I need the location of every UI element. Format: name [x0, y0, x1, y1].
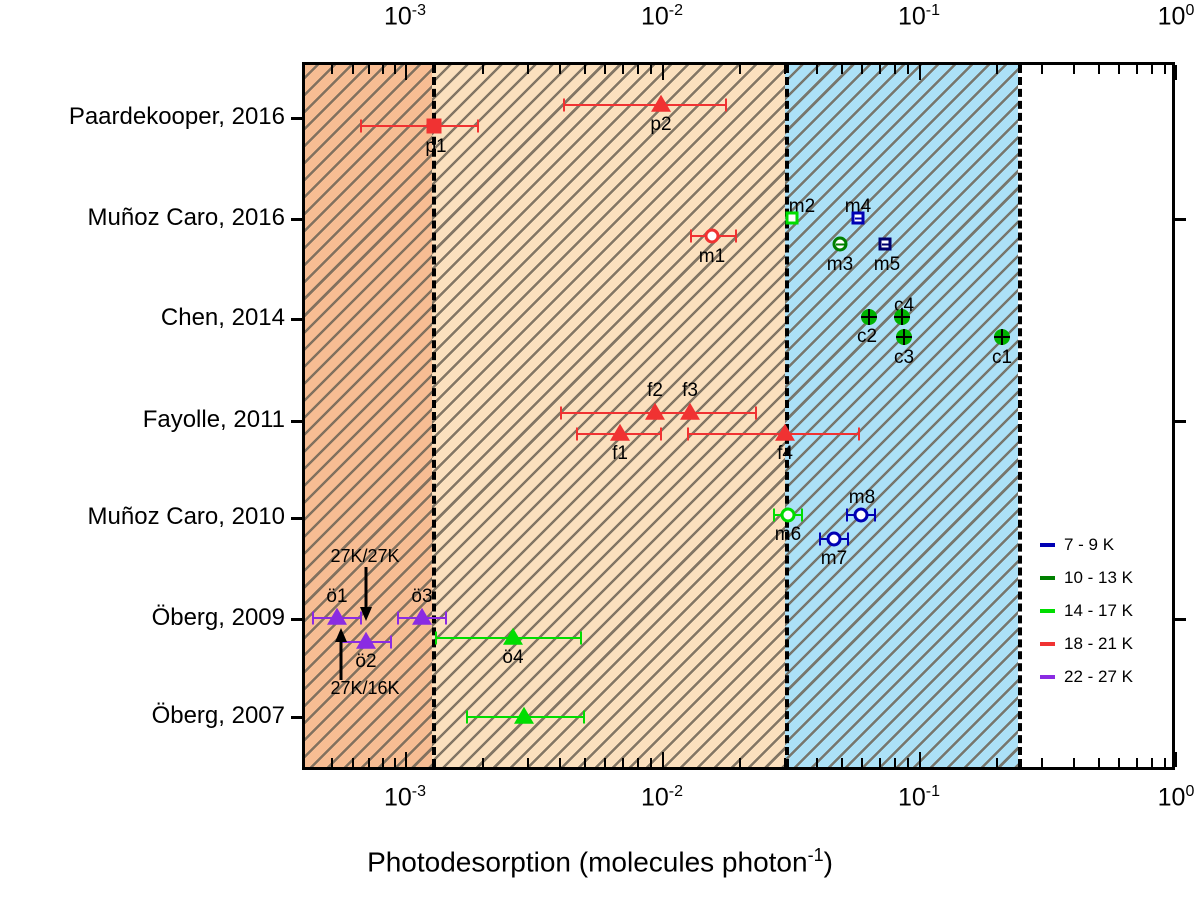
legend-swatch-22-27k [1040, 675, 1055, 679]
errorbar-f4 [688, 433, 859, 435]
band-blue [785, 65, 1018, 767]
point-m5[interactable] [879, 238, 892, 251]
x-axis-title: Photodesorption (molecules photon-1) [0, 845, 1200, 878]
errorcap-f1-low [576, 428, 578, 441]
errorcap-m1-low [690, 230, 692, 243]
errorcap-p2-low [563, 99, 565, 112]
errorcap-f2f3-high [755, 407, 757, 420]
legend-label-18-21k: 18 - 21 K [1064, 634, 1133, 654]
errorcap-f4-high [858, 428, 860, 441]
errorcap-o2-high [390, 636, 392, 649]
x-axis-title-close: ) [824, 846, 833, 877]
y-tick-4 [291, 517, 302, 520]
errorcap-m7-low [819, 533, 821, 546]
point-label-c1: c1 [992, 347, 1012, 369]
point-label-f1: f1 [612, 443, 628, 465]
y-tick-label-fayolle-2011: Fayolle, 2011 [143, 406, 285, 434]
y-tick-0 [291, 117, 302, 120]
point-o2[interactable] [356, 632, 376, 649]
errorcap-o1-low [312, 612, 314, 625]
point-label-m8: m8 [849, 487, 875, 509]
legend-label-22-27k: 22 - 27 K [1064, 667, 1133, 687]
y-tick-5 [291, 618, 302, 621]
point-m3[interactable] [833, 237, 848, 252]
band-peach [432, 65, 785, 767]
legend-swatch-7-9k [1040, 543, 1055, 547]
x-tick-label-top-1e-3: 10-3 [384, 2, 426, 31]
point-o4[interactable] [503, 628, 523, 645]
point-p2[interactable] [651, 95, 671, 112]
legend-item-7-9k[interactable]: 7 - 9 K [1040, 528, 1170, 561]
errorcap-m8-low [846, 509, 848, 522]
errorcap-oberg2007-high [583, 711, 585, 724]
point-oberg2007[interactable] [514, 707, 534, 724]
point-m4[interactable] [852, 212, 865, 225]
y-tick-right-1 [1175, 218, 1186, 221]
legend-swatch-18-21k [1040, 642, 1055, 646]
legend-label-7-9k: 7 - 9 K [1064, 535, 1114, 555]
temperature-legend: 7 - 9 K 10 - 13 K 14 - 17 K 18 - 21 K 22… [1040, 528, 1170, 693]
point-m7[interactable] [827, 532, 842, 547]
axis-left [302, 62, 305, 770]
y-tick-2 [291, 318, 302, 321]
point-c3[interactable] [896, 329, 912, 345]
point-m1[interactable] [705, 229, 720, 244]
y-tick-6 [291, 716, 302, 719]
y-tick-label-chen-2014: Chen, 2014 [161, 304, 285, 332]
point-c4[interactable] [894, 309, 910, 325]
legend-label-10-13k: 10 - 13 K [1064, 568, 1133, 588]
point-m8[interactable] [854, 508, 869, 523]
legend-item-18-21k[interactable]: 18 - 21 K [1040, 627, 1170, 660]
y-tick-label-munoz-caro-2010: Muñoz Caro, 2010 [88, 503, 285, 531]
point-c1[interactable] [994, 329, 1010, 345]
x-tick-label-top-1e-2: 10-2 [641, 2, 683, 31]
y-tick-right-3 [1175, 420, 1186, 423]
legend-swatch-14-17k [1040, 609, 1055, 613]
point-label-m7: m7 [821, 548, 847, 570]
point-label-c2: c2 [857, 326, 877, 348]
legend-item-14-17k[interactable]: 14 - 17 K [1040, 594, 1170, 627]
errorcap-o4-low [435, 632, 437, 645]
x-axis-title-exponent: -1 [808, 845, 824, 865]
errorcap-oberg2007-low [466, 711, 468, 724]
x-tick-label-bottom-1e0: 100 [1158, 783, 1195, 812]
dashed-boundary-1 [432, 65, 436, 767]
errorcap-o4-high [580, 632, 582, 645]
point-label-f4: f4 [777, 443, 793, 465]
point-f1[interactable] [610, 424, 630, 441]
point-f4[interactable] [775, 424, 795, 441]
errorcap-f1-high [660, 428, 662, 441]
point-f2[interactable] [645, 403, 665, 420]
axis-right [1172, 62, 1175, 770]
errorcap-m1-high [735, 230, 737, 243]
point-o3[interactable] [412, 608, 432, 625]
legend-swatch-10-13k [1040, 576, 1055, 580]
point-p1[interactable] [427, 119, 442, 134]
errorcap-f4-low [687, 428, 689, 441]
point-label-f2: f2 [647, 380, 663, 402]
y-tick-label-paardekooper-2016: Paardekooper, 2016 [69, 103, 285, 131]
point-m2[interactable] [786, 212, 799, 225]
point-label-o4: ö4 [502, 647, 523, 669]
errorbar-p2 [564, 104, 726, 106]
errorcap-o3-low [397, 612, 399, 625]
errorcap-p2-high [725, 99, 727, 112]
dashed-boundary-3 [1018, 65, 1022, 767]
errorcap-m6-low [773, 509, 775, 522]
point-label-m3: m3 [827, 254, 853, 276]
dashed-boundary-2 [785, 65, 789, 767]
y-tick-label-oberg-2007: Öberg, 2007 [152, 702, 285, 730]
point-o1[interactable] [327, 608, 347, 625]
x-axis-title-main: Photodesorption (molecules photon [367, 846, 808, 877]
point-label-o1: ö1 [326, 586, 347, 608]
errorcap-m8-high [874, 509, 876, 522]
y-tick-label-munoz-caro-2016: Muñoz Caro, 2016 [88, 204, 285, 232]
point-c2[interactable] [861, 309, 877, 325]
annotation-arrow-down [357, 567, 375, 622]
errorcap-p1-low [360, 120, 362, 133]
x-tick-label-top-1e-1: 10-1 [898, 2, 940, 31]
point-label-o3: ö3 [411, 586, 432, 608]
annotation-27k-16k: 27K/16K [330, 678, 399, 699]
errorbar-p1 [361, 125, 478, 127]
x-tick-label-bottom-1e-1: 10-1 [898, 783, 940, 812]
point-label-o2: ö2 [355, 651, 376, 673]
point-label-p2: p2 [650, 114, 671, 136]
errorcap-m6-high [801, 509, 803, 522]
y-tick-label-oberg-2009: Öberg, 2009 [152, 604, 285, 632]
point-label-c3: c3 [894, 347, 914, 369]
point-label-p1: p1 [425, 136, 446, 158]
x-tick-label-bottom-1e-3: 10-3 [384, 783, 426, 812]
y-tick-3 [291, 420, 302, 423]
x-tick-label-bottom-1e-2: 10-2 [641, 783, 683, 812]
legend-item-22-27k[interactable]: 22 - 27 K [1040, 660, 1170, 693]
errorcap-p1-high [477, 120, 479, 133]
legend-item-10-13k[interactable]: 10 - 13 K [1040, 561, 1170, 594]
point-m6[interactable] [781, 508, 796, 523]
y-tick-1 [291, 218, 302, 221]
legend-label-14-17k: 14 - 17 K [1064, 601, 1133, 621]
errorcap-o3-high [445, 612, 447, 625]
point-label-m5: m5 [874, 254, 900, 276]
point-f3[interactable] [680, 403, 700, 420]
errorcap-m7-high [847, 533, 849, 546]
point-label-m1: m1 [699, 246, 725, 268]
x-tick-label-top-1e0: 100 [1158, 2, 1195, 31]
annotation-27k-27k: 27K/27K [330, 546, 399, 567]
errorcap-f2f3-low [560, 407, 562, 420]
axis-bottom [302, 767, 1175, 770]
point-label-f3: f3 [682, 380, 698, 402]
annotation-arrow-up [332, 628, 350, 680]
y-tick-right-5 [1175, 618, 1186, 621]
point-label-m6: m6 [775, 524, 801, 546]
